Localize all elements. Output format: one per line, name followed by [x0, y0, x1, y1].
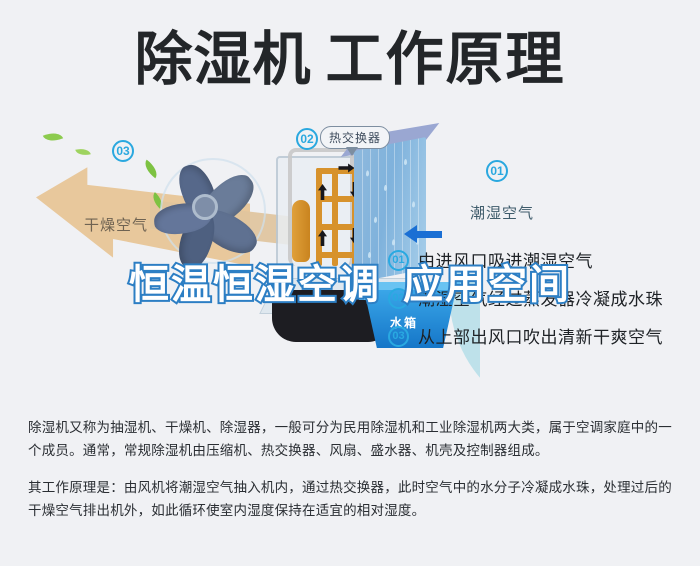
step-text: 潮湿空气经过蒸发器冷凝成水珠 — [418, 285, 663, 310]
dry-air-label: 干燥空气 — [84, 214, 148, 235]
step-item: 03 从上部出风口吹出清新干爽空气 — [388, 322, 688, 360]
page-title-part1: 除湿机 — [134, 28, 311, 92]
step-text: 从上部出风口吹出清新干爽空气 — [418, 323, 663, 348]
description-paragraph-2: 其工作原理是：由风机将潮湿空气抽入机内，通过热交换器，此时空气中的水分子冷凝成水… — [28, 476, 676, 522]
heat-exchanger-callout: 热交换器 — [320, 126, 390, 149]
page-title-part2: 工作原理 — [326, 28, 566, 92]
step-text: 由进风口吸进潮湿空气 — [418, 247, 593, 272]
callout-pointer-icon — [346, 147, 358, 156]
inlet-arrow-tail — [416, 231, 442, 238]
page-root: 除湿机工作原理 干燥空气 03 — [0, 0, 700, 566]
page-title: 除湿机工作原理 — [0, 28, 700, 92]
leaf-icon — [75, 146, 91, 157]
fan-hub — [192, 194, 218, 220]
step-list: 01 由进风口吸进潮湿空气 02 潮湿空气经过蒸发器冷凝成水珠 03 从上部出风… — [388, 246, 688, 360]
step-badge: 02 — [388, 288, 409, 309]
step-item: 02 潮湿空气经过蒸发器冷凝成水珠 — [388, 284, 688, 322]
step-badge: 01 — [388, 250, 409, 271]
compressor-cylinder — [292, 200, 310, 262]
leaf-icon — [43, 129, 63, 145]
step-badge: 03 — [388, 326, 409, 347]
humid-air-label: 潮湿空气 — [470, 202, 534, 223]
fan-icon — [152, 152, 274, 270]
description-paragraph-1: 除湿机又称为抽湿机、干燥机、除湿器，一般可分为民用除湿机和工业除湿机两大类，属于… — [28, 416, 676, 462]
diagram-badge-02: 02 — [296, 128, 318, 150]
diagram-badge-01: 01 — [486, 160, 508, 182]
description-block: 除湿机又称为抽湿机、干燥机、除湿器，一般可分为民用除湿机和工业除湿机两大类，属于… — [28, 416, 676, 522]
diagram-badge-03: 03 — [112, 140, 134, 162]
inlet-arrow-icon — [404, 225, 417, 243]
step-item: 01 由进风口吸进潮湿空气 — [388, 246, 688, 284]
